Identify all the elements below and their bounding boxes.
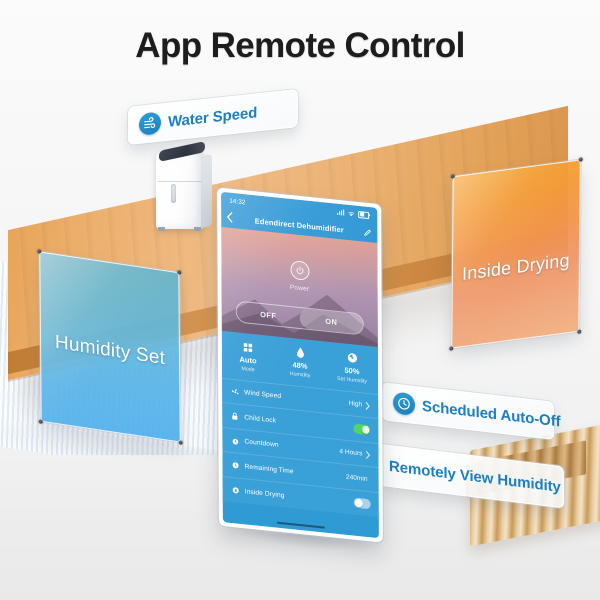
mount-dot <box>579 157 583 162</box>
dehumidifier-unit <box>156 143 214 231</box>
home-indicator <box>277 521 325 528</box>
mount-dot <box>179 440 183 445</box>
row-child-lock-toggle[interactable] <box>353 424 370 435</box>
row-countdown-value: 4 Hours <box>339 448 362 457</box>
status-bar-time: 14:32 <box>229 197 245 206</box>
timer-icon <box>230 436 239 446</box>
mount-dot <box>177 270 181 275</box>
appliance-side <box>201 154 212 228</box>
appliance-tank-handle <box>171 184 176 203</box>
battery-icon <box>358 211 369 219</box>
mount-dot <box>37 249 41 254</box>
stat-mode[interactable]: Auto Mode <box>222 338 274 375</box>
mount-dot <box>577 329 581 334</box>
power-hero-section: Power OFF ON <box>221 227 378 347</box>
phone-screen: 14:32 Edendirect Dehumi <box>221 192 379 538</box>
gauge-icon <box>326 349 378 367</box>
product-scene: App Remote Control Humidity Set <box>0 0 600 600</box>
mode-grid-icon <box>222 338 274 356</box>
appliance-body <box>156 151 204 229</box>
row-child-lock-label: Child Lock <box>244 414 353 432</box>
chevron-right-icon <box>365 396 370 415</box>
power-icon[interactable] <box>290 260 309 281</box>
lock-icon <box>230 411 239 421</box>
clock-icon <box>393 391 415 416</box>
wind-icon <box>139 111 161 135</box>
droplet-icon <box>274 343 326 361</box>
clock-icon <box>231 460 240 470</box>
row-remaining-time-value: 240min <box>346 473 368 482</box>
chip-scheduled-auto-off[interactable]: Scheduled Auto-Off <box>382 382 554 440</box>
appliance-foot <box>194 227 201 231</box>
appliance-seam <box>158 181 202 182</box>
stat-humidity[interactable]: 48% Humidity <box>274 343 326 380</box>
chip-remotely-view-humidity-label: Remotely View Humidity <box>389 457 561 495</box>
panel-humidity-set: Humidity Set <box>39 251 180 442</box>
settings-list: Wind Speed High Child Lock <box>222 379 379 518</box>
row-wind-speed-value: High <box>349 400 363 408</box>
row-wind-speed-label: Wind Speed <box>244 389 348 407</box>
chip-scheduled-auto-off-label: Scheduled Auto-Off <box>422 397 561 430</box>
fan-icon <box>230 387 239 397</box>
row-remaining-time-label: Remaining Time <box>245 463 346 480</box>
panel-inside-drying: Inside Drying <box>451 159 580 348</box>
appliance-foot <box>158 227 165 231</box>
back-chevron-icon[interactable] <box>226 209 233 228</box>
mount-dot <box>39 419 43 424</box>
chevron-right-icon <box>365 445 370 464</box>
row-inside-drying-label: Inside Drying <box>245 488 354 506</box>
chip-water-speed-label: Water Speed <box>168 104 257 130</box>
wifi-icon <box>347 209 355 217</box>
chip-water-speed[interactable]: Water Speed <box>128 89 298 145</box>
status-bar-icons <box>337 208 369 218</box>
stat-set-humidity[interactable]: 50% Set Humidity <box>326 349 378 386</box>
smartphone-mockup: 14:32 Edendirect Dehumi <box>217 187 383 542</box>
row-inside-drying-toggle[interactable] <box>354 498 371 509</box>
dry-icon <box>231 485 240 495</box>
page-title: App Remote Control <box>0 26 600 66</box>
row-countdown-label: Countdown <box>244 438 339 455</box>
mount-dot <box>449 346 453 351</box>
signal-icon <box>337 209 344 216</box>
pencil-icon[interactable] <box>363 223 372 242</box>
